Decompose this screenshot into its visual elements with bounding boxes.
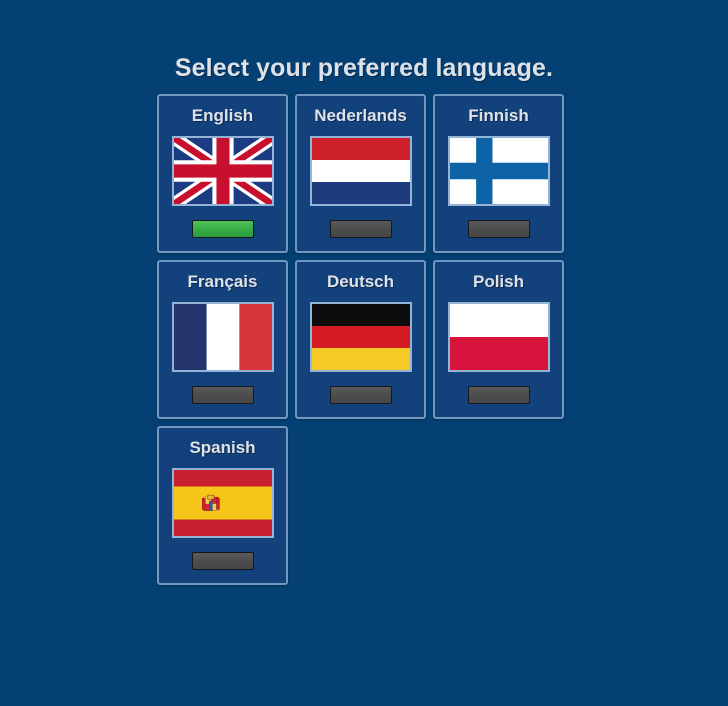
finland-flag-icon xyxy=(448,136,550,206)
language-label: Spanish xyxy=(189,438,255,458)
france-flag-icon xyxy=(172,302,274,372)
spain-flag-icon xyxy=(172,468,274,538)
germany-flag-icon xyxy=(310,302,412,372)
netherlands-flag-icon xyxy=(310,136,412,206)
selection-indicator[interactable] xyxy=(192,386,254,404)
language-label: English xyxy=(192,106,253,126)
language-card-finnish[interactable]: Finnish xyxy=(433,94,564,253)
poland-flag-icon xyxy=(448,302,550,372)
language-card-english[interactable]: English xyxy=(157,94,288,253)
selection-indicator[interactable] xyxy=(468,220,530,238)
language-label: Finnish xyxy=(468,106,528,126)
language-label: Nederlands xyxy=(314,106,407,126)
language-grid: English Nederlands Finnish xyxy=(157,94,577,585)
language-label: Deutsch xyxy=(327,272,394,292)
language-card-spanish[interactable]: Spanish xyxy=(157,426,288,585)
language-label: Polish xyxy=(473,272,524,292)
language-card-nederlands[interactable]: Nederlands xyxy=(295,94,426,253)
selection-indicator[interactable] xyxy=(330,220,392,238)
selection-indicator[interactable] xyxy=(330,386,392,404)
page-title: Select your preferred language. xyxy=(0,54,728,83)
selection-indicator[interactable] xyxy=(192,220,254,238)
uk-flag-icon xyxy=(172,136,274,206)
language-label: Français xyxy=(188,272,258,292)
language-card-polish[interactable]: Polish xyxy=(433,260,564,419)
selection-indicator[interactable] xyxy=(468,386,530,404)
language-card-deutsch[interactable]: Deutsch xyxy=(295,260,426,419)
selection-indicator[interactable] xyxy=(192,552,254,570)
language-card-francais[interactable]: Français xyxy=(157,260,288,419)
